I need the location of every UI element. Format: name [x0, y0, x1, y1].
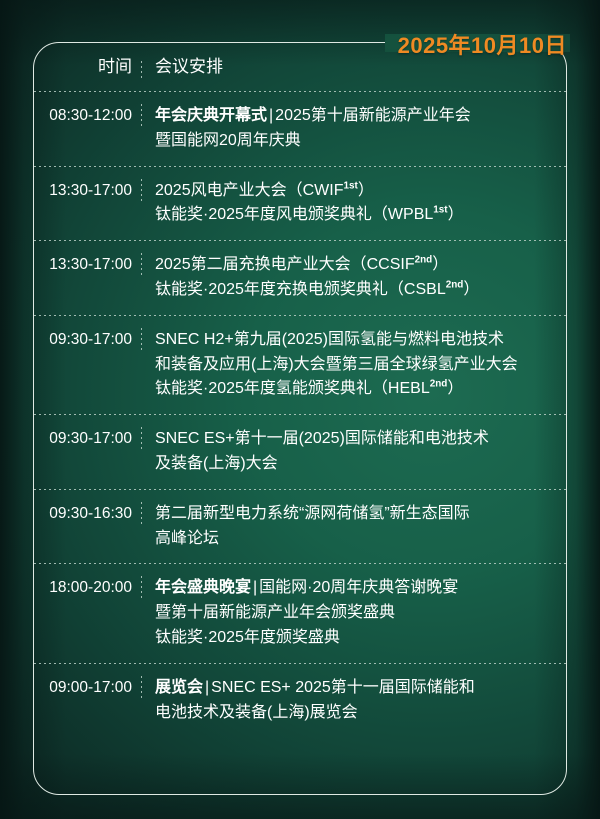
- ordinal-superscript: 1st: [343, 180, 357, 191]
- table-row[interactable]: 18:00-20:00年会盛典晚宴|国能网·20周年庆典答谢晚宴暨第十届新能源产…: [34, 564, 566, 663]
- event-text: 暨国能网20周年庆典: [155, 132, 301, 149]
- event-line: SNEC H2+第九届(2025)国际氢能与燃料电池技术: [155, 328, 566, 353]
- event-text: SNEC ES+ 2025第十一届国际储能和: [211, 679, 475, 696]
- event-line: 2025风电产业大会（CWIF1st）: [155, 179, 566, 204]
- event-description: SNEC H2+第九届(2025)国际氢能与燃料电池技术和装备及应用(上海)大会…: [142, 328, 566, 402]
- event-line: 电池技术及装备(上海)展览会: [155, 701, 566, 726]
- event-text: 第二届新型电力系统“源网荷储氢”新生态国际: [155, 505, 470, 522]
- table-row[interactable]: 13:30-17:002025风电产业大会（CWIF1st）钛能奖·2025年度…: [34, 167, 566, 242]
- event-description: 2025风电产业大会（CWIF1st）钛能奖·2025年度风电颁奖典礼（WPBL…: [142, 179, 566, 229]
- schedule-poster: 2025年10月10日 时间 会议安排 08:30-12:00年会庆典开幕式|2…: [0, 0, 600, 819]
- ordinal-superscript: 2nd: [415, 255, 433, 266]
- event-time: 18:00-20:00: [34, 576, 142, 599]
- event-text: 钛能奖·2025年度氢能颁奖典礼（HEBL: [155, 380, 430, 397]
- event-line: 钛能奖·2025年度风电颁奖典礼（WPBL1st）: [155, 203, 566, 228]
- event-line: 和装备及应用(上海)大会暨第三届全球绿氢产业大会: [155, 353, 566, 378]
- event-time: 09:00-17:00: [34, 676, 142, 699]
- event-line: 年会庆典开幕式|2025第十届新能源产业年会: [155, 104, 566, 129]
- event-time: 09:30-16:30: [34, 502, 142, 525]
- event-time: 13:30-17:00: [34, 179, 142, 202]
- event-line: 及装备(上海)大会: [155, 452, 566, 477]
- event-text: 暨第十届新能源产业年会颁奖盛典: [155, 604, 395, 621]
- event-line: 第二届新型电力系统“源网荷储氢”新生态国际: [155, 502, 566, 527]
- event-text: 国能网·20周年庆典答谢晚宴: [259, 579, 458, 596]
- event-title-highlight: 展览会: [155, 679, 203, 696]
- table-row[interactable]: 13:30-17:002025第二届充换电产业大会（CCSIF2nd）钛能奖·2…: [34, 241, 566, 316]
- event-date-label: 2025年10月10日: [398, 28, 567, 60]
- event-text: 2025风电产业大会（CWIF: [155, 182, 343, 199]
- event-text-tail: ）: [432, 256, 448, 273]
- event-line: 展览会|SNEC ES+ 2025第十一届国际储能和: [155, 676, 566, 701]
- event-description: 年会庆典开幕式|2025第十届新能源产业年会暨国能网20周年庆典: [142, 104, 566, 154]
- table-row[interactable]: 09:30-17:00SNEC ES+第十一届(2025)国际储能和电池技术及装…: [34, 415, 566, 490]
- table-row[interactable]: 09:30-16:30第二届新型电力系统“源网荷储氢”新生态国际高峰论坛: [34, 490, 566, 565]
- title-separator: |: [251, 579, 259, 596]
- event-description: SNEC ES+第十一届(2025)国际储能和电池技术及装备(上海)大会: [142, 427, 566, 477]
- event-text-tail: ）: [358, 182, 374, 199]
- event-text: 和装备及应用(上海)大会暨第三届全球绿氢产业大会: [155, 356, 518, 373]
- event-line: SNEC ES+第十一届(2025)国际储能和电池技术: [155, 427, 566, 452]
- table-body: 08:30-12:00年会庆典开幕式|2025第十届新能源产业年会暨国能网20周…: [34, 92, 566, 738]
- event-text: 高峰论坛: [155, 530, 219, 547]
- table-row[interactable]: 09:30-17:00SNEC H2+第九届(2025)国际氢能与燃料电池技术和…: [34, 316, 566, 415]
- event-time: 08:30-12:00: [34, 104, 142, 127]
- column-header-time: 时间: [34, 55, 142, 80]
- event-line: 钛能奖·2025年度氢能颁奖典礼（HEBL2nd）: [155, 377, 566, 402]
- event-text: 钛能奖·2025年度颁奖盛典: [155, 629, 340, 646]
- event-text-tail: ）: [448, 206, 464, 223]
- ordinal-superscript: 2nd: [446, 280, 464, 291]
- event-description: 第二届新型电力系统“源网荷储氢”新生态国际高峰论坛: [142, 502, 566, 552]
- event-description: 2025第二届充换电产业大会（CCSIF2nd）钛能奖·2025年度充换电颁奖典…: [142, 253, 566, 303]
- event-line: 年会盛典晚宴|国能网·20周年庆典答谢晚宴: [155, 576, 566, 601]
- event-text: 及装备(上海)大会: [155, 455, 278, 472]
- event-text: 钛能奖·2025年度充换电颁奖典礼（CSBL: [155, 281, 446, 298]
- schedule-table: 时间 会议安排 08:30-12:00年会庆典开幕式|2025第十届新能源产业年…: [33, 42, 567, 795]
- event-line: 高峰论坛: [155, 527, 566, 552]
- event-text-tail: ）: [447, 380, 463, 397]
- event-line: 暨第十届新能源产业年会颁奖盛典: [155, 601, 566, 626]
- event-time: 13:30-17:00: [34, 253, 142, 276]
- event-description: 展览会|SNEC ES+ 2025第十一届国际储能和电池技术及装备(上海)展览会: [142, 676, 566, 726]
- event-text: SNEC H2+第九届(2025)国际氢能与燃料电池技术: [155, 331, 504, 348]
- event-text: 电池技术及装备(上海)展览会: [155, 704, 358, 721]
- event-text: SNEC ES+第十一届(2025)国际储能和电池技术: [155, 430, 489, 447]
- table-row[interactable]: 08:30-12:00年会庆典开幕式|2025第十届新能源产业年会暨国能网20周…: [34, 92, 566, 167]
- event-title-highlight: 年会盛典晚宴: [155, 579, 251, 596]
- event-line: 2025第二届充换电产业大会（CCSIF2nd）: [155, 253, 566, 278]
- event-text: 钛能奖·2025年度风电颁奖典礼（WPBL: [155, 206, 433, 223]
- event-text: 2025第二届充换电产业大会（CCSIF: [155, 256, 415, 273]
- event-line: 钛能奖·2025年度颁奖盛典: [155, 626, 566, 651]
- title-separator: |: [203, 679, 211, 696]
- event-text-tail: ）: [463, 281, 479, 298]
- event-time: 09:30-17:00: [34, 328, 142, 351]
- event-line: 钛能奖·2025年度充换电颁奖典礼（CSBL2nd）: [155, 278, 566, 303]
- ordinal-superscript: 1st: [433, 205, 447, 216]
- ordinal-superscript: 2nd: [430, 379, 448, 390]
- title-separator: |: [267, 107, 275, 124]
- event-title-highlight: 年会庆典开幕式: [155, 107, 267, 124]
- event-text: 2025第十届新能源产业年会: [275, 107, 471, 124]
- event-description: 年会盛典晚宴|国能网·20周年庆典答谢晚宴暨第十届新能源产业年会颁奖盛典钛能奖·…: [142, 576, 566, 650]
- event-line: 暨国能网20周年庆典: [155, 129, 566, 154]
- event-time: 09:30-17:00: [34, 427, 142, 450]
- table-row[interactable]: 09:00-17:00展览会|SNEC ES+ 2025第十一届国际储能和电池技…: [34, 664, 566, 739]
